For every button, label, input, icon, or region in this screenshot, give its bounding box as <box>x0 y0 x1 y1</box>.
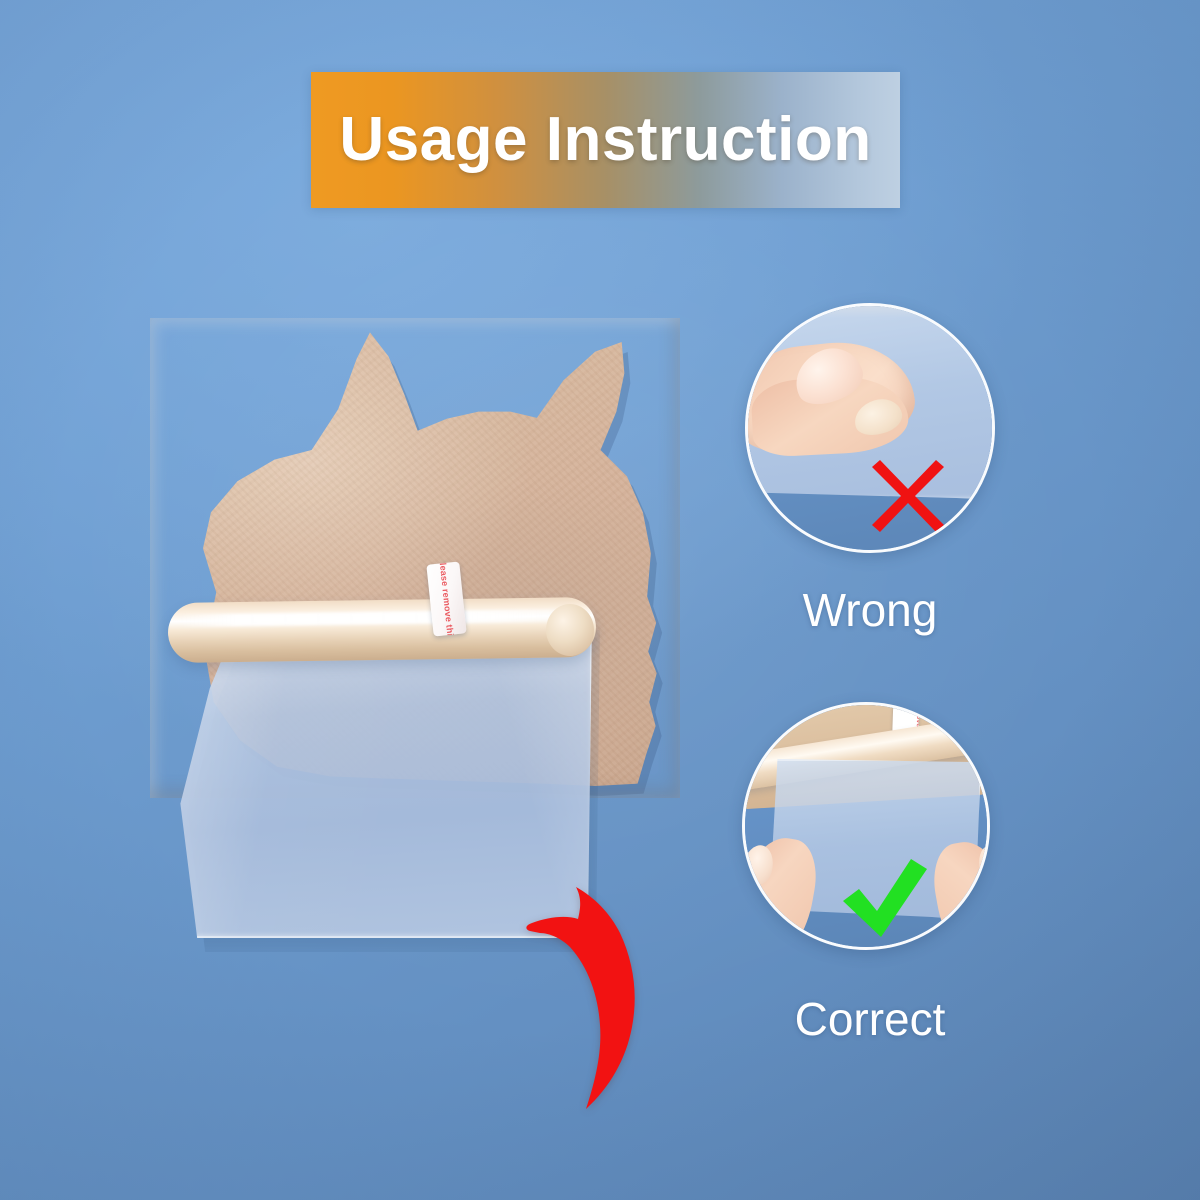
pull-tab-text: Please remove this <box>437 561 456 636</box>
check-mark-icon <box>839 853 931 941</box>
wrong-inset-photo <box>748 306 992 550</box>
wrong-example-circle <box>745 303 995 553</box>
wrong-label: Wrong <box>730 583 1010 637</box>
usage-instruction-banner: Usage Instruction <box>311 72 900 208</box>
correct-label: Correct <box>730 992 1010 1046</box>
correct-example-circle: Please remove this <box>742 702 990 950</box>
page-title: Usage Instruction <box>339 109 871 171</box>
x-mark-icon <box>870 456 946 532</box>
main-product-illustration: Please remove this Tear off protective f… <box>150 318 680 968</box>
rolled-protective-film <box>168 597 597 663</box>
peel-direction-arrow <box>522 883 652 1113</box>
correct-inset-photo: Please remove this <box>745 705 987 947</box>
